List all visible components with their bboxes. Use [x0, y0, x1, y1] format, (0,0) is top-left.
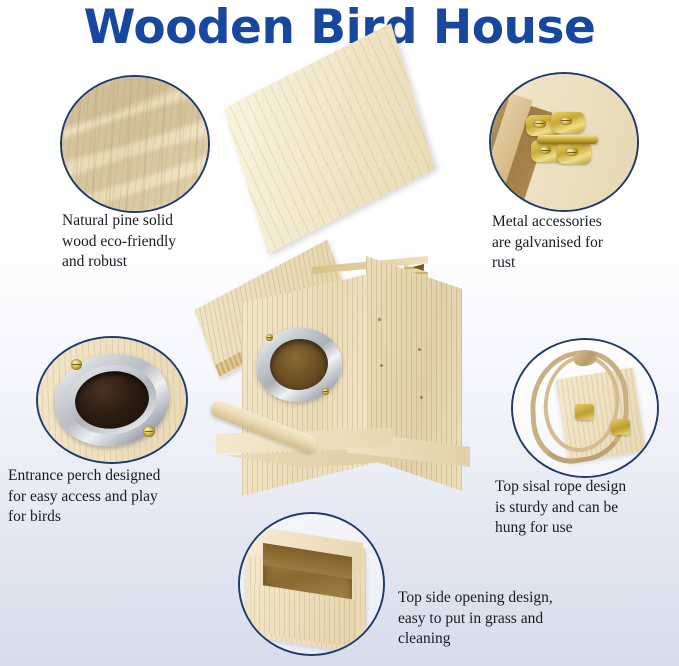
screw-icon [533, 120, 545, 128]
feature-image-metal-accessories [489, 72, 639, 212]
screw-icon [322, 388, 329, 395]
feature-caption-sisal-rope: Top sisal rope design is sturdy and can … [495, 477, 679, 539]
screw-icon [565, 148, 577, 156]
entrance-hole-scene [38, 338, 186, 462]
screw-icon [266, 334, 273, 341]
product-image-bird-house [196, 96, 496, 516]
screw-icon [143, 426, 155, 437]
infographic-canvas: Wooden Bird House Natural pine solid woo… [0, 0, 679, 666]
open-box-scene [240, 514, 383, 654]
feature-image-top-side-opening [238, 512, 385, 656]
sisal-rope-scene [513, 340, 657, 476]
screw-icon [560, 117, 572, 125]
wood-grain-swoosh [60, 75, 210, 213]
brass-hinge-icon [526, 115, 608, 164]
brass-hinge-icon [611, 419, 630, 435]
hinge-scene [491, 74, 637, 210]
feature-caption-top-side-opening: Top side opening design, easy to put in … [398, 588, 628, 650]
feature-image-entrance-perch [36, 336, 188, 464]
feature-caption-entrance-perch: Entrance perch designed for easy access … [8, 466, 223, 528]
hinge-pin [537, 135, 597, 143]
feature-caption-metal-accessories: Metal accessories are galvanised for rus… [492, 212, 672, 274]
feature-image-natural-pine [60, 75, 210, 213]
brass-hinge-icon [575, 404, 594, 420]
feature-image-sisal-rope [511, 338, 659, 478]
pine-grain-texture [62, 77, 208, 211]
